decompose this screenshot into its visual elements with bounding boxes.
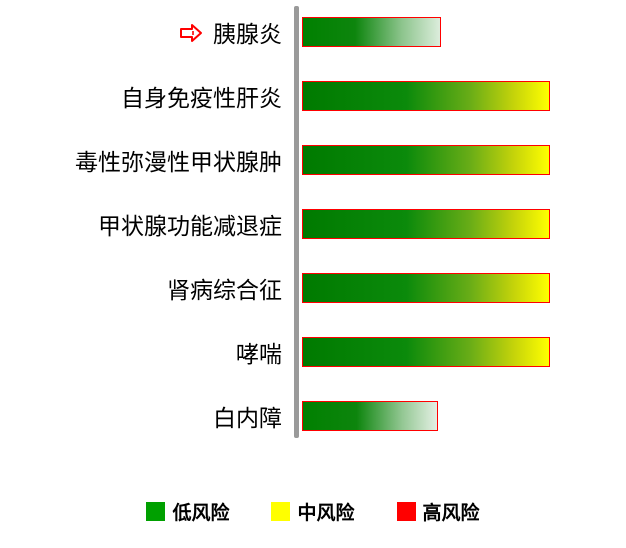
bar-cell-5 [302, 337, 550, 367]
bar-cell-3 [302, 209, 550, 239]
category-label-text-2: 毒性弥漫性甲状腺肿 [75, 143, 282, 177]
bar-3 [302, 209, 550, 239]
table-row: 白内障 [0, 384, 626, 448]
table-row: 肾病综合征 [0, 256, 626, 320]
legend: 低风险 中风险 高风险 [0, 498, 626, 525]
legend-swatch-low [146, 502, 165, 521]
legend-item-high: 高风险 [397, 498, 480, 525]
category-label-2: 毒性弥漫性甲状腺肿 [0, 143, 290, 177]
bar-0 [302, 17, 441, 47]
category-label-text-5: 哮喘 [236, 335, 282, 369]
category-label-text-6: 白内障 [213, 399, 282, 433]
legend-swatch-high [397, 502, 416, 521]
legend-item-low: 低风险 [146, 498, 229, 525]
bar-4 [302, 273, 550, 303]
legend-swatch-medium [271, 502, 290, 521]
bar-6 [302, 401, 438, 431]
category-label-0: 胰腺炎 [0, 15, 290, 49]
chart-rows: 胰腺炎 自身免疫性肝炎 毒性弥漫性甲状腺肿 [0, 0, 626, 450]
pointing-hand-icon [179, 22, 209, 44]
legend-label-low: 低风险 [172, 498, 229, 525]
table-row: 哮喘 [0, 320, 626, 384]
category-label-text-0: 胰腺炎 [213, 15, 282, 49]
bar-cell-6 [302, 401, 438, 431]
category-label-5: 哮喘 [0, 335, 290, 369]
category-label-3: 甲状腺功能减退症 [0, 207, 290, 241]
category-label-text-1: 自身免疫性肝炎 [121, 79, 282, 113]
category-label-1: 自身免疫性肝炎 [0, 79, 290, 113]
legend-item-medium: 中风险 [271, 498, 354, 525]
bar-2 [302, 145, 550, 175]
category-label-text-4: 肾病综合征 [167, 271, 282, 305]
table-row: 自身免疫性肝炎 [0, 64, 626, 128]
bar-cell-4 [302, 273, 550, 303]
category-label-4: 肾病综合征 [0, 271, 290, 305]
bar-5 [302, 337, 550, 367]
bar-cell-1 [302, 81, 550, 111]
bar-cell-0 [302, 17, 441, 47]
bar-cell-2 [302, 145, 550, 175]
bar-1 [302, 81, 550, 111]
table-row: 毒性弥漫性甲状腺肿 [0, 128, 626, 192]
risk-gradient-bar-chart: 胰腺炎 自身免疫性肝炎 毒性弥漫性甲状腺肿 [0, 0, 626, 548]
legend-label-high: 高风险 [423, 498, 480, 525]
category-label-text-3: 甲状腺功能减退症 [98, 207, 282, 241]
table-row: 甲状腺功能减退症 [0, 192, 626, 256]
category-label-6: 白内障 [0, 399, 290, 433]
table-row: 胰腺炎 [0, 0, 626, 64]
legend-label-medium: 中风险 [297, 498, 354, 525]
